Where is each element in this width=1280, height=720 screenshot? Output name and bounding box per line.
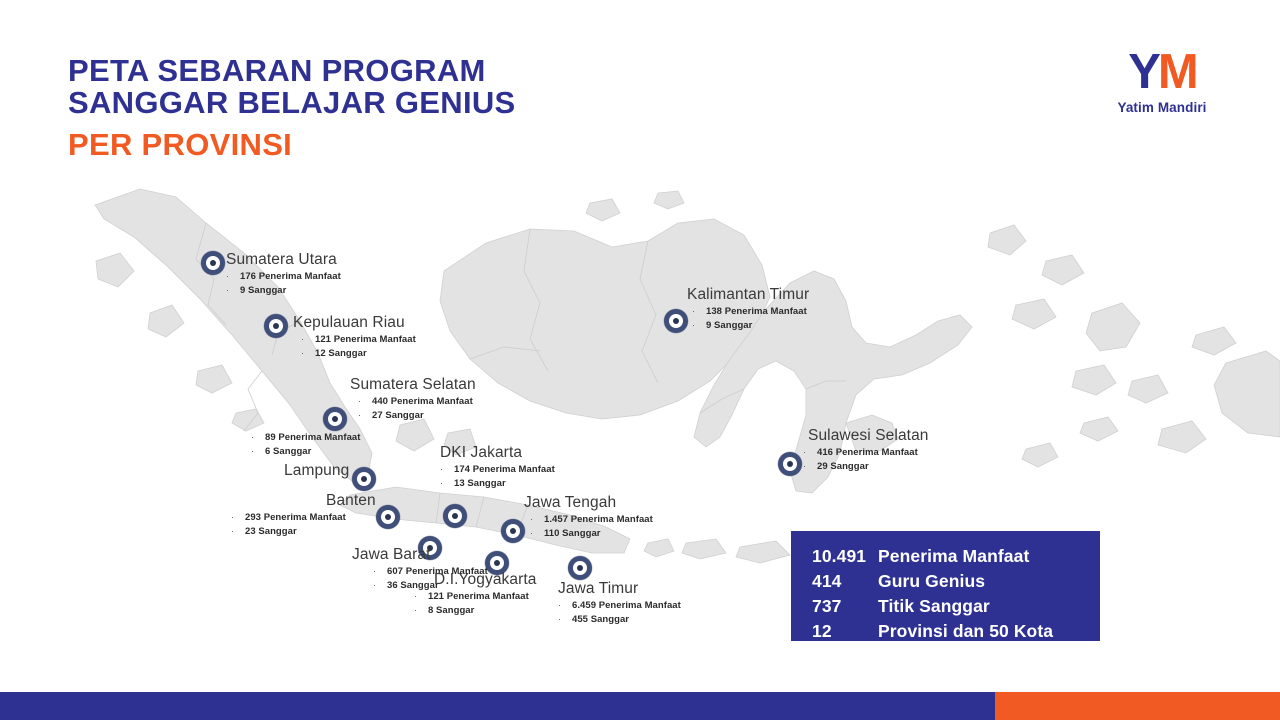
bullet-icon: · bbox=[803, 460, 817, 473]
province-stats: ·174 Penerima Manfaat ·13 Sanggar bbox=[440, 463, 555, 491]
province-name: Jawa Barat bbox=[352, 546, 488, 564]
province-name: Jawa Timur bbox=[558, 580, 681, 598]
stat-penerima-manfaat: ·416 Penerima Manfaat bbox=[803, 446, 929, 460]
stat-sanggar: ·27 Sanggar bbox=[358, 409, 476, 423]
summary-label: Penerima Manfaat bbox=[878, 544, 1029, 569]
province-stats: ·440 Penerima Manfaat ·27 Sanggar bbox=[350, 395, 476, 423]
title-line-1: PETA SEBARAN PROGRAM bbox=[68, 55, 516, 87]
summary-value: 10.491 bbox=[812, 544, 878, 569]
stat-sanggar: ·13 Sanggar bbox=[440, 477, 555, 491]
logo-letter-y: Y bbox=[1128, 45, 1158, 99]
marker-ring-icon bbox=[269, 319, 283, 333]
province-name: Jawa Tengah bbox=[524, 494, 653, 512]
bullet-icon: · bbox=[226, 284, 240, 297]
title-subtitle: PER PROVINSI bbox=[68, 129, 516, 161]
stat-sanggar: ·9 Sanggar bbox=[692, 319, 809, 333]
marker-ring-icon bbox=[206, 256, 220, 270]
bullet-icon: · bbox=[358, 395, 372, 408]
bullet-icon: · bbox=[692, 305, 706, 318]
marker-sumatera-selatan[interactable] bbox=[323, 407, 347, 431]
footer-bar-orange bbox=[995, 692, 1280, 720]
stat-penerima-manfaat: ·121 Penerima Manfaat bbox=[301, 333, 416, 347]
province-stats: ·176 Penerima Manfaat ·9 Sanggar bbox=[226, 270, 341, 298]
summary-label: Titik Sanggar bbox=[878, 594, 990, 619]
summary-value: 12 bbox=[812, 619, 878, 644]
summary-row-provinsi-kota: 12 Provinsi dan 50 Kota bbox=[812, 619, 1100, 644]
label-kepulauan-riau: Kepulauan Riau ·121 Penerima Manfaat ·12… bbox=[293, 314, 416, 361]
stat-penerima-manfaat: ·121 Penerima Manfaat bbox=[414, 590, 537, 604]
summary-row-titik-sanggar: 737 Titik Sanggar bbox=[812, 594, 1100, 619]
marker-sulawesi-selatan[interactable] bbox=[778, 452, 802, 476]
label-sumatera-utara: Sumatera Utara ·176 Penerima Manfaat ·9 … bbox=[226, 251, 341, 298]
bullet-icon: · bbox=[440, 463, 454, 476]
marker-dot-icon bbox=[510, 528, 516, 534]
bullet-icon: · bbox=[558, 599, 572, 612]
page-title: PETA SEBARAN PROGRAM SANGGAR BELAJAR GEN… bbox=[68, 55, 516, 161]
label-kalimantan-timur: Kalimantan Timur ·138 Penerima Manfaat ·… bbox=[687, 286, 809, 333]
stat-sanggar: ·23 Sanggar bbox=[231, 525, 376, 539]
province-name: Sulawesi Selatan bbox=[808, 427, 929, 445]
marker-ring-icon bbox=[573, 561, 587, 575]
marker-ring-icon bbox=[490, 556, 504, 570]
bullet-icon: · bbox=[414, 590, 428, 603]
bullet-icon: · bbox=[440, 477, 454, 490]
bullet-icon: · bbox=[251, 445, 265, 458]
marker-banten[interactable] bbox=[376, 505, 400, 529]
label-sulawesi-selatan: Sulawesi Selatan ·416 Penerima Manfaat ·… bbox=[808, 427, 929, 474]
logo-mark: YM bbox=[1102, 48, 1222, 97]
province-name: Banten bbox=[326, 492, 376, 510]
logo-wordmark: Yatim Mandiri bbox=[1102, 100, 1222, 115]
logo-yatim-mandiri: YM Yatim Mandiri bbox=[1102, 48, 1222, 115]
logo-letter-m: M bbox=[1158, 45, 1196, 99]
bullet-icon: · bbox=[373, 565, 387, 578]
bullet-icon: · bbox=[373, 579, 387, 592]
province-name: Sumatera Selatan bbox=[350, 376, 476, 394]
marker-ring-icon bbox=[381, 510, 395, 524]
label-sumatera-selatan: Sumatera Selatan ·440 Penerima Manfaat ·… bbox=[350, 376, 476, 423]
marker-dki-jakarta[interactable] bbox=[443, 504, 467, 528]
province-name: Kepulauan Riau bbox=[293, 314, 416, 332]
marker-ring-icon bbox=[506, 524, 520, 538]
stat-sanggar: ·12 Sanggar bbox=[301, 347, 416, 361]
summary-label: Provinsi dan 50 Kota bbox=[878, 619, 1053, 644]
bullet-icon: · bbox=[414, 604, 428, 617]
stat-penerima-manfaat: ·89 Penerima Manfaat bbox=[251, 431, 360, 445]
marker-ring-icon bbox=[448, 509, 462, 523]
bullet-icon: · bbox=[301, 333, 315, 346]
province-name: DKI Jakarta bbox=[440, 444, 555, 462]
stat-sanggar: ·110 Sanggar bbox=[530, 527, 653, 541]
bullet-icon: · bbox=[251, 431, 265, 444]
label-dki-jakarta: DKI Jakarta ·174 Penerima Manfaat ·13 Sa… bbox=[440, 444, 555, 491]
bullet-icon: · bbox=[803, 446, 817, 459]
marker-dot-icon bbox=[494, 560, 500, 566]
marker-dot-icon bbox=[452, 513, 458, 519]
marker-dot-icon bbox=[787, 461, 793, 467]
label-di-yogyakarta: D.I.Yogyakarta ·121 Penerima Manfaat ·8 … bbox=[434, 571, 537, 618]
marker-dot-icon bbox=[385, 514, 391, 520]
bullet-icon: · bbox=[231, 511, 245, 524]
province-name: Lampung bbox=[284, 462, 360, 480]
province-stats: ·89 Penerima Manfaat ·6 Sanggar bbox=[251, 431, 360, 459]
summary-value: 737 bbox=[812, 594, 878, 619]
province-stats: ·293 Penerima Manfaat ·23 Sanggar bbox=[231, 511, 376, 539]
province-stats: ·121 Penerima Manfaat ·12 Sanggar bbox=[293, 333, 416, 361]
marker-dot-icon bbox=[577, 565, 583, 571]
marker-kalimantan-timur[interactable] bbox=[664, 309, 688, 333]
marker-dot-icon bbox=[673, 318, 679, 324]
slide-canvas: PETA SEBARAN PROGRAM SANGGAR BELAJAR GEN… bbox=[0, 0, 1280, 720]
stat-penerima-manfaat: ·440 Penerima Manfaat bbox=[358, 395, 476, 409]
stat-penerima-manfaat: ·176 Penerima Manfaat bbox=[226, 270, 341, 284]
stat-sanggar: ·455 Sanggar bbox=[558, 613, 681, 627]
marker-jawa-timur[interactable] bbox=[568, 556, 592, 580]
footer-bar-blue bbox=[0, 692, 995, 720]
label-jawa-tengah: Jawa Tengah ·1.457 Penerima Manfaat ·110… bbox=[524, 494, 653, 541]
marker-dot-icon bbox=[332, 416, 338, 422]
bullet-icon: · bbox=[301, 347, 315, 360]
marker-ring-icon bbox=[669, 314, 683, 328]
marker-ring-icon bbox=[783, 457, 797, 471]
bullet-icon: · bbox=[530, 513, 544, 526]
marker-dot-icon bbox=[210, 260, 216, 266]
summary-row-guru-genius: 414 Guru Genius bbox=[812, 569, 1100, 594]
marker-jawa-tengah[interactable] bbox=[501, 519, 525, 543]
bullet-icon: · bbox=[692, 319, 706, 332]
marker-sumatera-utara[interactable] bbox=[201, 251, 225, 275]
province-name: Kalimantan Timur bbox=[687, 286, 809, 304]
marker-dot-icon bbox=[273, 323, 279, 329]
province-stats: ·1.457 Penerima Manfaat ·110 Sanggar bbox=[524, 513, 653, 541]
stat-sanggar: ·6 Sanggar bbox=[251, 445, 360, 459]
label-lampung: ·89 Penerima Manfaat ·6 Sanggar Lampung bbox=[251, 430, 360, 480]
summary-value: 414 bbox=[812, 569, 878, 594]
stat-penerima-manfaat: ·293 Penerima Manfaat bbox=[231, 511, 376, 525]
bullet-icon: · bbox=[558, 613, 572, 626]
province-stats: ·138 Penerima Manfaat ·9 Sanggar bbox=[687, 305, 809, 333]
marker-dot-icon bbox=[361, 476, 367, 482]
summary-box: 10.491 Penerima Manfaat 414 Guru Genius … bbox=[791, 531, 1100, 641]
stat-sanggar: ·8 Sanggar bbox=[414, 604, 537, 618]
stat-penerima-manfaat: ·1.457 Penerima Manfaat bbox=[530, 513, 653, 527]
stat-sanggar: ·29 Sanggar bbox=[803, 460, 929, 474]
title-line-2: SANGGAR BELAJAR GENIUS bbox=[68, 87, 516, 119]
bullet-icon: · bbox=[231, 525, 245, 538]
province-name: Sumatera Utara bbox=[226, 251, 341, 269]
bullet-icon: · bbox=[530, 527, 544, 540]
label-jawa-timur: Jawa Timur ·6.459 Penerima Manfaat ·455 … bbox=[558, 580, 681, 627]
label-banten: Banten ·293 Penerima Manfaat ·23 Sanggar bbox=[326, 492, 376, 539]
stat-penerima-manfaat: ·6.459 Penerima Manfaat bbox=[558, 599, 681, 613]
province-stats: ·416 Penerima Manfaat ·29 Sanggar bbox=[803, 446, 929, 474]
province-stats: ·6.459 Penerima Manfaat ·455 Sanggar bbox=[558, 599, 681, 627]
marker-ring-icon bbox=[328, 412, 342, 426]
stat-sanggar: ·9 Sanggar bbox=[226, 284, 341, 298]
province-name: D.I.Yogyakarta bbox=[434, 571, 537, 589]
summary-label: Guru Genius bbox=[878, 569, 985, 594]
bullet-icon: · bbox=[226, 270, 240, 283]
province-stats: ·121 Penerima Manfaat ·8 Sanggar bbox=[414, 590, 537, 618]
stat-penerima-manfaat: ·174 Penerima Manfaat bbox=[440, 463, 555, 477]
bullet-icon: · bbox=[358, 409, 372, 422]
marker-kepulauan-riau[interactable] bbox=[264, 314, 288, 338]
stat-penerima-manfaat: ·138 Penerima Manfaat bbox=[692, 305, 809, 319]
summary-row-penerima-manfaat: 10.491 Penerima Manfaat bbox=[812, 544, 1100, 569]
